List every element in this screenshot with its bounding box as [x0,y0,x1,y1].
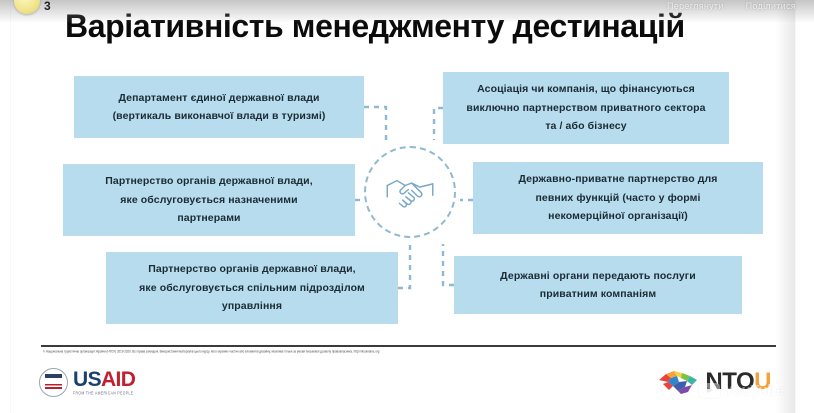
node-line: Департамент єдиної державної влади [113,89,326,107]
node-line: виключно партнерством приватного сектора [466,99,705,117]
slide-number: 3 [44,0,51,14]
node-line: партнерами [105,209,312,227]
ukraine-map-icon [657,368,699,396]
diagram-center-hub [364,146,456,238]
diagram-node-bottom-right[interactable]: Державні органи передають послуги приват… [454,256,742,314]
node-line: приватним компаніям [500,285,696,303]
node-line: певних функцій (часто у формі [518,189,717,207]
node-line: яке обслуговується назначеними [105,191,312,209]
channel-avatar-icon[interactable] [14,0,40,14]
node-line: Державні органи передають послуги [500,267,696,285]
video-overlay-actions[interactable]: Переглянути Поділитися [667,1,796,11]
diagram-node-middle-left[interactable]: Партнерство органів державної влади, яке… [63,164,355,236]
node-line: та / або бізнесу [466,117,705,135]
handshake-icon [384,172,436,212]
node-line: Державно-приватне партнерство для [518,170,717,188]
page-title: Варіативність менеджменту дестинацій [65,8,765,45]
footer-divider [41,345,781,347]
node-line: (вертикаль виконавчої влади в туризмі) [113,107,326,125]
ntou-word-nto: NTO [705,368,754,396]
ntou-logo: NTOU [657,368,771,396]
node-line: некомерційної організації) [518,207,717,225]
node-line: яке обслуговується спільним підрозділом [139,279,365,297]
node-line: Асоціація чи компанія, що фінансуються [466,80,705,98]
usaid-word-aid: AID [101,368,135,391]
node-line: управління [139,297,365,315]
usaid-tagline: FROM THE AMERICAN PEOPLE [73,392,135,396]
diagram-container: Департамент єдиної державної влади (верт… [11,62,795,324]
footer-legal-text: © Національна туристична організація Укр… [43,350,783,355]
diagram-node-top-right[interactable]: Асоціація чи компанія, що фінансуються в… [443,72,729,144]
slide-right-edge [776,0,795,413]
ntou-word-u: U [754,368,771,396]
diagram-node-bottom-left[interactable]: Партнерство органів державної влади, яке… [106,252,398,324]
usaid-word-us: US [73,368,101,391]
usaid-logo: USAID FROM THE AMERICAN PEOPLE [39,368,135,397]
video-player[interactable]: Варіативність менеджменту дестинацій [0,0,814,413]
slide-canvas: Варіативність менеджменту дестинацій [11,0,795,413]
overlay-action-watch[interactable]: Переглянути [667,1,724,11]
diagram-node-top-left[interactable]: Департамент єдиної державної влади (верт… [74,76,364,138]
usaid-seal-icon [39,368,68,397]
node-line: Партнерство органів державної влади, [105,172,312,190]
node-line: Партнерство органів державної влади, [139,260,365,278]
diagram-node-middle-right[interactable]: Державно-приватне партнерство для певних… [473,162,763,234]
video-channel-badge[interactable]: 3 [14,0,51,14]
overlay-action-share[interactable]: Поділитися [746,1,796,11]
